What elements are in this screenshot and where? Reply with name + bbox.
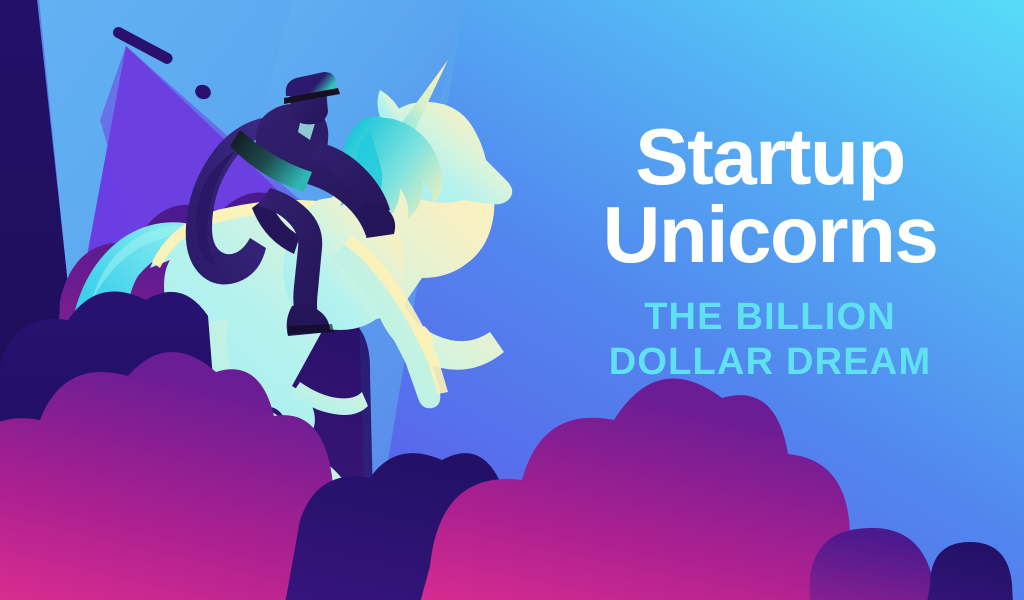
poster-canvas: Startup Unicorns THE BILLION DOLLAR DREA…: [0, 0, 1024, 600]
poster-artwork: [0, 0, 1024, 600]
